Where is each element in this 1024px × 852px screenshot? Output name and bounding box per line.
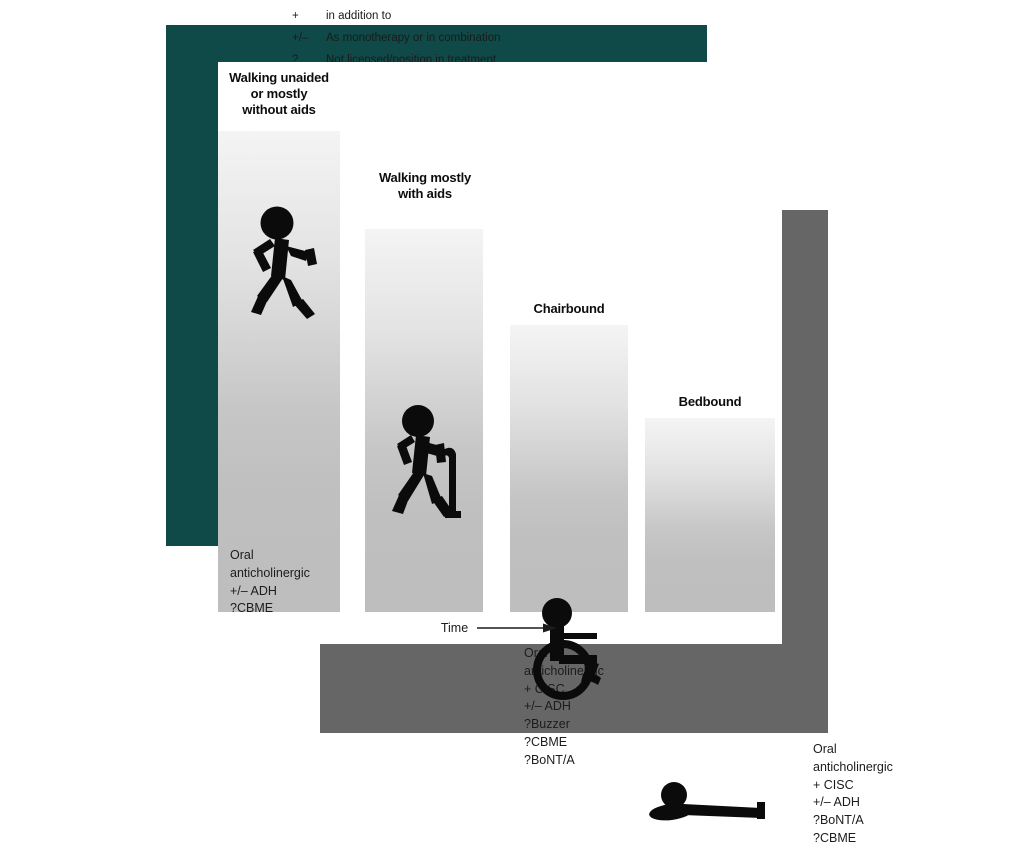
stage-title-bedbound: Bedbound [643, 394, 777, 410]
walking-person-icon [218, 206, 340, 322]
figure-card: Walking unaided or mostly without aids [218, 62, 782, 644]
stage-column-walking-unaided: Oral anticholinergic +/– ADH ?CBME [218, 131, 340, 612]
stage-column-chairbound: Oral anticholinergic + CISC +/– ADH ?BoN… [510, 325, 628, 612]
time-axis-label: Time [441, 621, 468, 635]
legend-row: + in addition to [292, 9, 560, 24]
legend-symbol: + [292, 9, 326, 24]
stage-column-bedbound: IDC [645, 418, 775, 612]
stage-title-walking-unaided: Walking unaided or mostly without aids [212, 70, 346, 118]
legend-row: +/– As monotherapy or in combination [292, 31, 560, 46]
stage-title-chairbound: Chairbound [504, 301, 634, 317]
bedbound-person-icon [645, 782, 775, 830]
wheelchair-icon [510, 597, 628, 701]
stage-column-walking-aids: Oral anticholinergic + CISC +/– ADH ?Buz… [365, 229, 483, 612]
walking-with-cane-icon [365, 404, 483, 522]
treatment-list-chairbound: Oral anticholinergic + CISC +/– ADH ?BoN… [813, 741, 893, 848]
legend-definition: in addition to [326, 9, 560, 24]
legend-definition: As monotherapy or in combination [326, 31, 560, 46]
legend-symbol: +/– [292, 31, 326, 46]
time-axis: Time [218, 621, 782, 635]
arrow-right-icon [477, 622, 559, 634]
stage-title-walking-aids: Walking mostly with aids [358, 170, 492, 202]
treatment-list-walking-unaided: Oral anticholinergic +/– ADH ?CBME [230, 547, 310, 618]
